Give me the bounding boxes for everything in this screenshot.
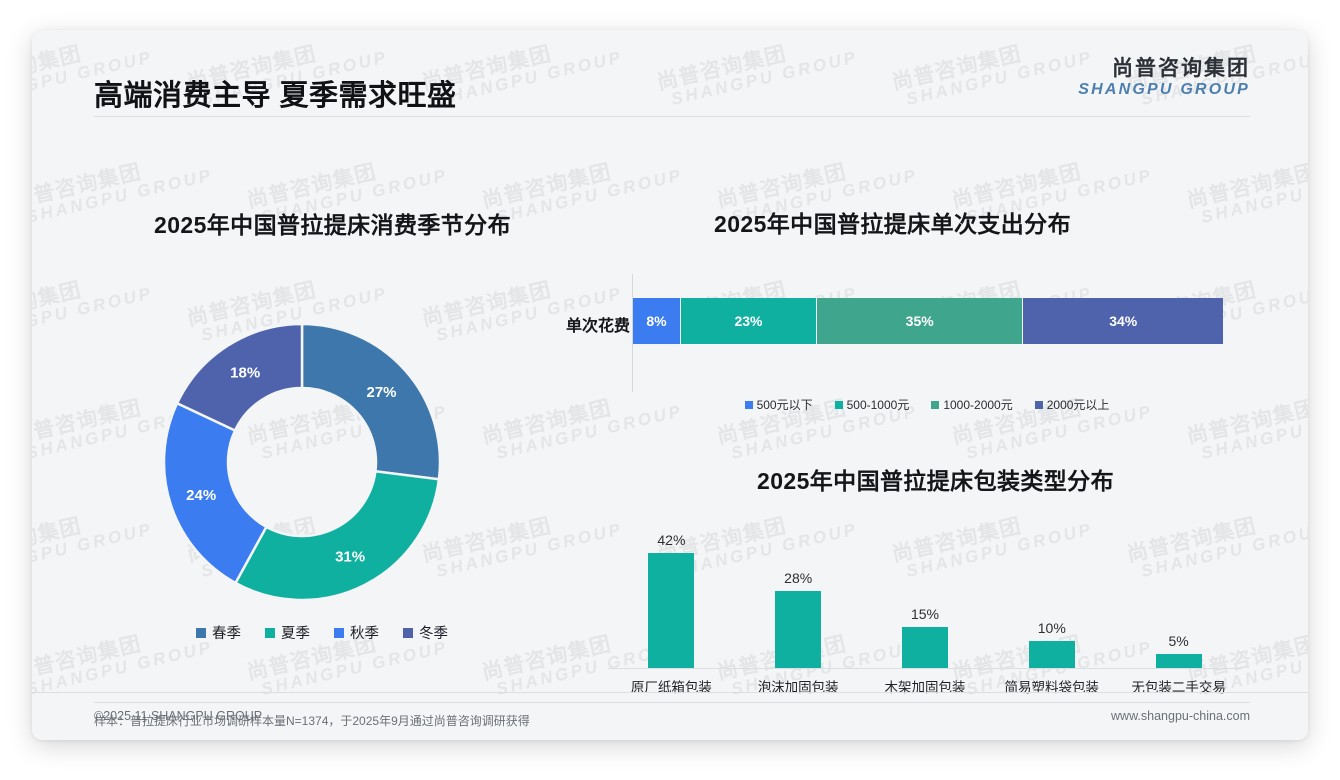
bar-rect[interactable] [902, 627, 948, 668]
bar-value-label: 42% [657, 532, 685, 548]
stacked-bar-segment[interactable]: 8% [633, 298, 681, 344]
donut-chart: 27%31%24%18% [142, 292, 502, 632]
slide-footer: ©2025.11 SHANGPU GROUP www.shangpu-china… [32, 692, 1308, 740]
donut-legend-item[interactable]: 冬季 [403, 622, 448, 643]
stacked-bar-legend-label: 2000元以上 [1047, 396, 1110, 413]
stacked-bar-chart: 单次花费 8%23%35%34% 500元以下500-1000元1000-200… [532, 270, 1252, 410]
stacked-bar-track: 8%23%35%34% [633, 298, 1223, 344]
donut-chart-legend: 春季夏季秋季冬季 [142, 622, 502, 643]
legend-swatch-icon [931, 401, 939, 409]
donut-segment[interactable] [236, 471, 439, 600]
bar-rect[interactable] [1029, 641, 1075, 669]
brand-name-cn: 尚普咨询集团 [1078, 58, 1250, 81]
donut-segment-value-label: 24% [186, 487, 216, 504]
legend-swatch-icon [196, 628, 206, 638]
stacked-bar-legend-item[interactable]: 500-1000元 [835, 396, 910, 413]
donut-legend-item[interactable]: 夏季 [265, 622, 310, 643]
legend-swatch-icon [265, 628, 275, 638]
page-title: 高端消费主导 夏季需求旺盛 [94, 72, 457, 114]
bar-chart-plot: 42%28%15%10%5% [608, 508, 1242, 668]
bar-value-label: 5% [1168, 633, 1188, 649]
slide-card: 尚普咨询集团SHANGPU GROUP尚普咨询集团SHANGPU GROUP尚普… [32, 30, 1308, 740]
legend-swatch-icon [1035, 401, 1043, 409]
donut-legend-label: 春季 [212, 622, 241, 643]
bar-chart-column[interactable]: 42% [608, 508, 735, 668]
donut-chart-title: 2025年中国普拉提床消费季节分布 [154, 206, 511, 240]
watermark-tile: 尚普咨询集团SHANGPU GROUP [32, 264, 155, 348]
header-divider [94, 116, 1250, 117]
stacked-bar-segment[interactable]: 35% [817, 298, 1023, 344]
slide-header: 高端消费主导 夏季需求旺盛 尚普咨询集团 SHANGPU GROUP [32, 30, 1308, 120]
legend-swatch-icon [835, 401, 843, 409]
stacked-bar-segment[interactable]: 23% [681, 298, 817, 344]
watermark-tile: 尚普咨询集团SHANGPU GROUP [1185, 146, 1308, 230]
bar-value-label: 10% [1038, 620, 1066, 636]
legend-swatch-icon [745, 401, 753, 409]
bar-chart: 42%28%15%10%5% 原厂纸箱包装泡沫加固包装木架加固包装简易塑料袋包装… [592, 508, 1252, 698]
stacked-bar-legend-label: 500-1000元 [847, 396, 910, 413]
stacked-bar-legend-item[interactable]: 2000元以上 [1035, 396, 1110, 413]
donut-legend-label: 冬季 [419, 622, 448, 643]
bar-value-label: 15% [911, 606, 939, 622]
donut-segment-value-label: 31% [335, 548, 365, 565]
donut-legend-label: 秋季 [350, 622, 379, 643]
stacked-bar-row-label: 单次花费 [538, 312, 630, 336]
footer-copyright: ©2025.11 SHANGPU GROUP [94, 709, 262, 723]
donut-legend-item[interactable]: 春季 [196, 622, 241, 643]
stacked-bar-legend-label: 500元以下 [757, 396, 813, 413]
donut-segment[interactable] [302, 324, 440, 479]
bar-chart-column[interactable]: 15% [862, 508, 989, 668]
brand-logo: 尚普咨询集团 SHANGPU GROUP [1078, 58, 1250, 98]
legend-swatch-icon [403, 628, 413, 638]
donut-chart-svg: 27%31%24%18% [142, 292, 502, 632]
stacked-bar-segment[interactable]: 34% [1023, 298, 1223, 344]
bar-value-label: 28% [784, 570, 812, 586]
bar-rect[interactable] [648, 553, 694, 669]
stacked-bar-legend-label: 1000-2000元 [943, 396, 1012, 413]
watermark-tile: 尚普咨询集团SHANGPU GROUP [32, 500, 155, 584]
donut-segment-value-label: 27% [366, 384, 396, 401]
footer-website[interactable]: www.shangpu-china.com [1111, 709, 1250, 723]
stacked-chart-title: 2025年中国普拉提床单次支出分布 [714, 205, 1071, 239]
stacked-bar-legend-item[interactable]: 1000-2000元 [931, 396, 1012, 413]
donut-legend-item[interactable]: 秋季 [334, 622, 379, 643]
donut-legend-label: 夏季 [281, 622, 310, 643]
legend-swatch-icon [334, 628, 344, 638]
bar-rect[interactable] [775, 591, 821, 668]
brand-name-en: SHANGPU GROUP [1078, 81, 1250, 98]
donut-segment-value-label: 18% [230, 365, 260, 382]
bar-rect[interactable] [1156, 654, 1202, 668]
bar-chart-baseline [608, 668, 1242, 669]
bar-chart-title: 2025年中国普拉提床包装类型分布 [757, 462, 1114, 496]
bar-chart-column[interactable]: 5% [1115, 508, 1242, 668]
bar-chart-column[interactable]: 10% [988, 508, 1115, 668]
stacked-bar-legend: 500元以下500-1000元1000-2000元2000元以上 [632, 396, 1222, 413]
bar-chart-column[interactable]: 28% [735, 508, 862, 668]
stacked-bar-legend-item[interactable]: 500元以下 [745, 396, 813, 413]
